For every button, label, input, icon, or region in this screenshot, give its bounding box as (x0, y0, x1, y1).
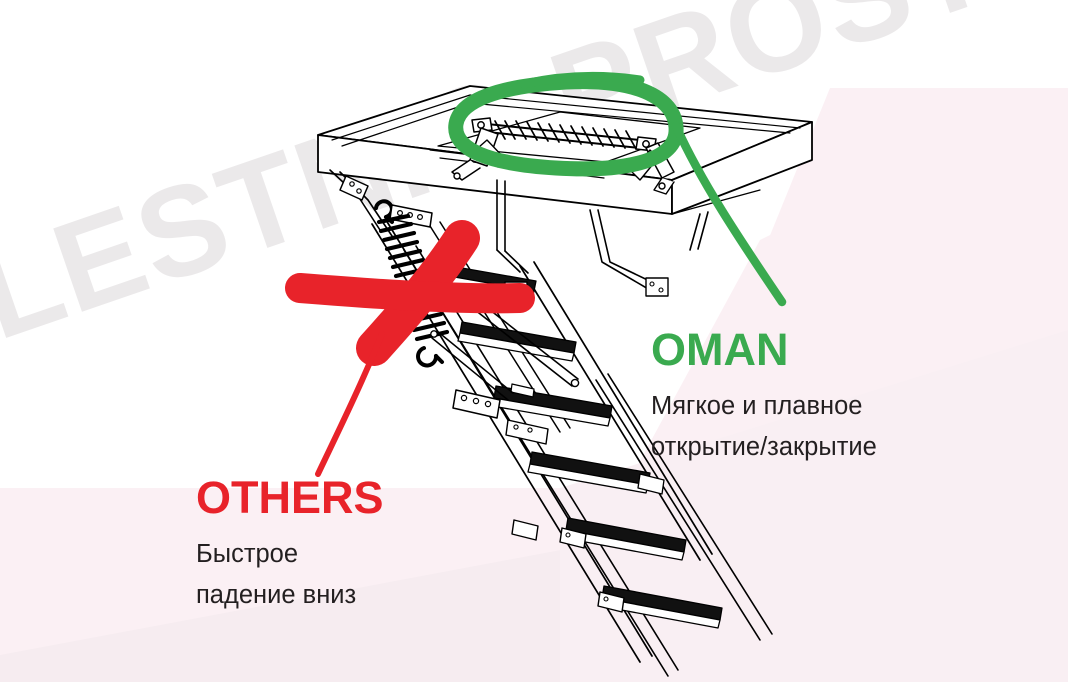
green-leader-line (676, 126, 782, 302)
oman-description-line-1: Мягкое и плавное (651, 386, 981, 427)
red-leader-line (318, 334, 382, 474)
others-label-block: OTHERS Быстрое падение вниз (196, 475, 496, 617)
oman-title: OMAN (651, 327, 981, 372)
others-description-line-2: падение вниз (196, 575, 496, 616)
green-circle-highlight (456, 77, 676, 169)
others-description-line-1: Быстрое (196, 534, 496, 575)
others-title: OTHERS (196, 475, 496, 520)
infographic-canvas: LESTNIC-PROSTO.RU (0, 0, 1068, 682)
red-cross-mark (300, 238, 520, 348)
oman-description-line-2: открытие/закрытие (651, 427, 981, 468)
oman-label-block: OMAN Мягкое и плавное открытие/закрытие (651, 327, 981, 469)
